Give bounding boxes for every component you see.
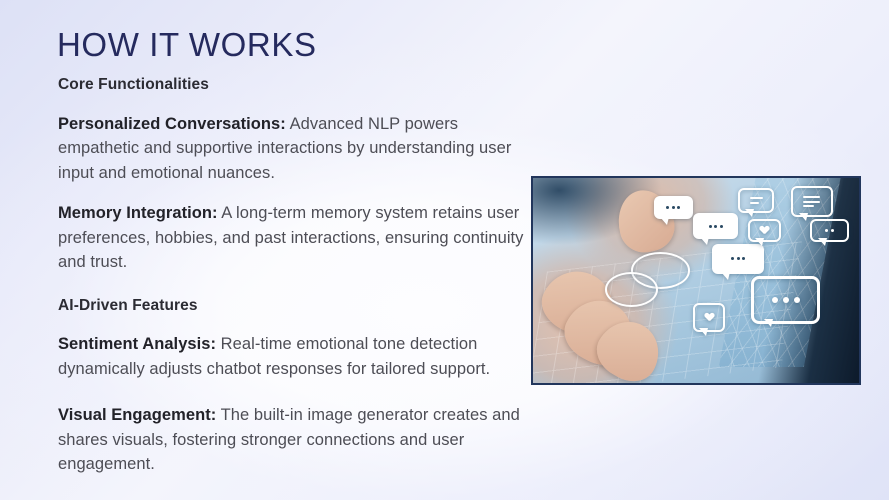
paragraph-memory-integration: Memory Integration: A long-term memory s…: [58, 201, 528, 275]
chat-bubble-dots-icon: [693, 213, 739, 240]
heart-glyph: [760, 226, 769, 234]
chat-bubble-dots-icon: [712, 244, 764, 275]
paragraph-lead: Memory Integration:: [58, 204, 218, 222]
chat-bubble-lines-icon: [791, 186, 833, 217]
paragraph-lead: Sentiment Analysis:: [58, 335, 216, 353]
dots-glyph: [772, 297, 800, 303]
paragraph-lead: Visual Engagement:: [58, 406, 216, 424]
chat-bubble-dots-icon: [654, 196, 693, 219]
paragraph-personalized-conversations: Personalized Conversations: Advanced NLP…: [58, 112, 528, 186]
chat-bubble-oval-icon: [605, 272, 658, 307]
heart-glyph: [705, 313, 714, 321]
feature-photo: [531, 176, 861, 385]
content-column: Core Functionalities Personalized Conver…: [58, 76, 528, 477]
page-title: HOW IT WORKS: [57, 26, 317, 64]
section-heading-ai-driven: AI-Driven Features: [58, 297, 528, 316]
paragraph-lead: Personalized Conversations:: [58, 115, 286, 133]
dots-glyph: [731, 257, 745, 260]
dots-glyph: [709, 225, 723, 228]
slide-canvas: HOW IT WORKS Core Functionalities Person…: [0, 0, 889, 500]
chat-bubble-large-dots-icon: [751, 276, 819, 323]
chat-bubble-heart-icon: [693, 303, 726, 332]
dots-glyph: [825, 229, 834, 232]
lines-glyph: [750, 197, 763, 204]
section-heading-core: Core Functionalities: [58, 76, 528, 95]
paragraph-sentiment-analysis: Sentiment Analysis: Real-time emotional …: [58, 332, 528, 381]
chat-bubble-dots-icon: [810, 219, 849, 242]
chat-bubble-heart-icon: [748, 219, 781, 242]
dots-glyph: [666, 206, 680, 209]
paragraph-visual-engagement: Visual Engagement: The built-in image ge…: [58, 403, 528, 477]
chat-bubble-lines-icon: [738, 188, 774, 213]
photo-keyboard-hands: [533, 178, 859, 383]
lines-glyph: [803, 196, 820, 207]
